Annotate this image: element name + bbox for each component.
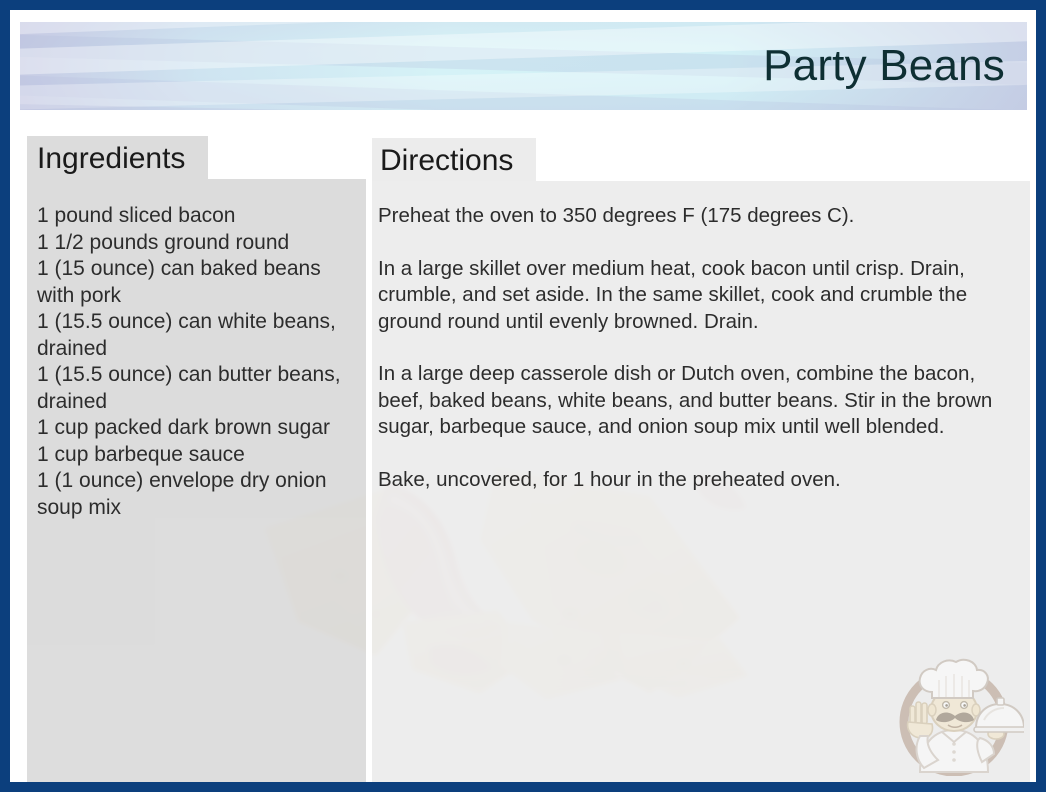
list-item: 1 cup packed dark brown sugar [37, 415, 358, 442]
list-item: 1 (15.5 ounce) can butter beans, drained [37, 362, 358, 415]
directions-heading: Directions [380, 142, 513, 180]
directions-heading-gap [536, 136, 1030, 181]
direction-step: In a large skillet over medium heat, coo… [378, 256, 1020, 336]
direction-step: Bake, uncovered, for 1 hour in the prehe… [378, 467, 1020, 494]
direction-step: Preheat the oven to 350 degrees F (175 d… [378, 203, 1020, 230]
directions-heading-box: Directions [372, 138, 536, 181]
ingredients-heading: Ingredients [37, 140, 185, 178]
title-band: Party Beans [20, 22, 1027, 110]
direction-step: In a large deep casserole dish or Dutch … [378, 361, 1020, 441]
ingredients-heading-box: Ingredients [27, 136, 208, 179]
directions-steps: Preheat the oven to 350 degrees F (175 d… [378, 203, 1020, 493]
list-item: 1 (15.5 ounce) can white beans, drained [37, 309, 358, 362]
list-item: 1 (1 ounce) envelope dry onion soup mix [37, 468, 358, 521]
list-item: 1 pound sliced bacon [37, 203, 358, 230]
list-item: 1 (15 ounce) can baked beans with pork [37, 256, 358, 309]
ingredients-heading-gap [208, 136, 366, 179]
recipe-slide: Party Beans [0, 0, 1046, 792]
slide-canvas: Party Beans [10, 10, 1036, 782]
ingredients-list: 1 pound sliced bacon 1 1/2 pounds ground… [37, 203, 358, 521]
directions-panel: Preheat the oven to 350 degrees F (175 d… [372, 181, 1030, 782]
list-item: 1 1/2 pounds ground round [37, 230, 358, 257]
page-title: Party Beans [763, 44, 1005, 88]
list-item: 1 cup barbeque sauce [37, 442, 358, 469]
column-gutter [366, 136, 372, 782]
ingredients-panel: 1 pound sliced bacon 1 1/2 pounds ground… [27, 179, 366, 782]
